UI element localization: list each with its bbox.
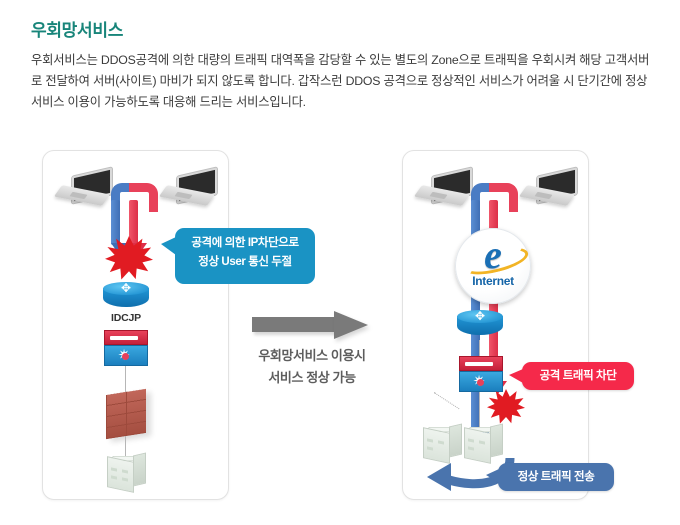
router-arrows-glyph: ✥ (112, 283, 140, 294)
callout-normal-traffic[interactable]: 정상 트래픽 전송 (498, 463, 614, 491)
arrow-shaft (252, 317, 336, 332)
switch-center-dot (122, 353, 129, 360)
laptop-icon (163, 172, 217, 206)
transition-caption: 우회망서비스 이용시 서비스 정상 가능 (237, 345, 387, 389)
laptop-icon (523, 172, 577, 206)
router-icon: ✥ (103, 282, 149, 312)
callout-tail (161, 237, 176, 255)
internet-explorer-icon: e Internet (455, 228, 531, 304)
attack-traffic-pipe (129, 200, 138, 245)
caption-line-2: 서비스 정상 가능 (237, 367, 387, 389)
arrow-head (334, 311, 368, 339)
caption-line-1: 우회망서비스 이용시 (237, 345, 387, 367)
callout-line-2: 정상 User 통신 두절 (175, 253, 315, 272)
callout-tail (486, 469, 499, 483)
switch-center-dot (477, 379, 484, 386)
page-title: 우회망서비스 (31, 16, 123, 41)
callout-ip-blocked[interactable]: 공격에 의한 IP차단으로 정상 User 통신 두절 (175, 228, 315, 284)
laptop-icon (418, 172, 472, 206)
link-line (479, 392, 480, 427)
switch-top-panel (104, 330, 148, 345)
laptop-icon (58, 172, 112, 206)
switch-icon: ✷ (104, 330, 148, 366)
router-label-idcjp: IDCJP (96, 312, 156, 324)
normal-traffic-pipe (111, 200, 120, 245)
server-side (133, 452, 146, 486)
link-line (125, 366, 126, 394)
callout-line-1: 공격에 의한 IP차단으로 (175, 234, 315, 253)
switch-top-panel (459, 356, 503, 371)
callout-attack-blocked[interactable]: 공격 트래픽 차단 (522, 362, 634, 390)
internet-label: Internet (455, 274, 531, 288)
intro-paragraph: 우회서비스는 DDOS공격에 의한 대량의 트래픽 대역폭을 감당할 수 있는 … (31, 50, 651, 113)
callout-label: 정상 트래픽 전송 (498, 463, 614, 491)
transition-arrow-icon (252, 311, 372, 339)
router-arrows-glyph: ✥ (466, 311, 494, 322)
callout-label: 공격 트래픽 차단 (522, 362, 634, 390)
firewall-icon (106, 389, 146, 439)
router-icon: ✥ (457, 310, 503, 340)
callout-tail (509, 369, 523, 383)
server-icon (107, 452, 147, 492)
switch-icon: ✷ (459, 356, 503, 392)
